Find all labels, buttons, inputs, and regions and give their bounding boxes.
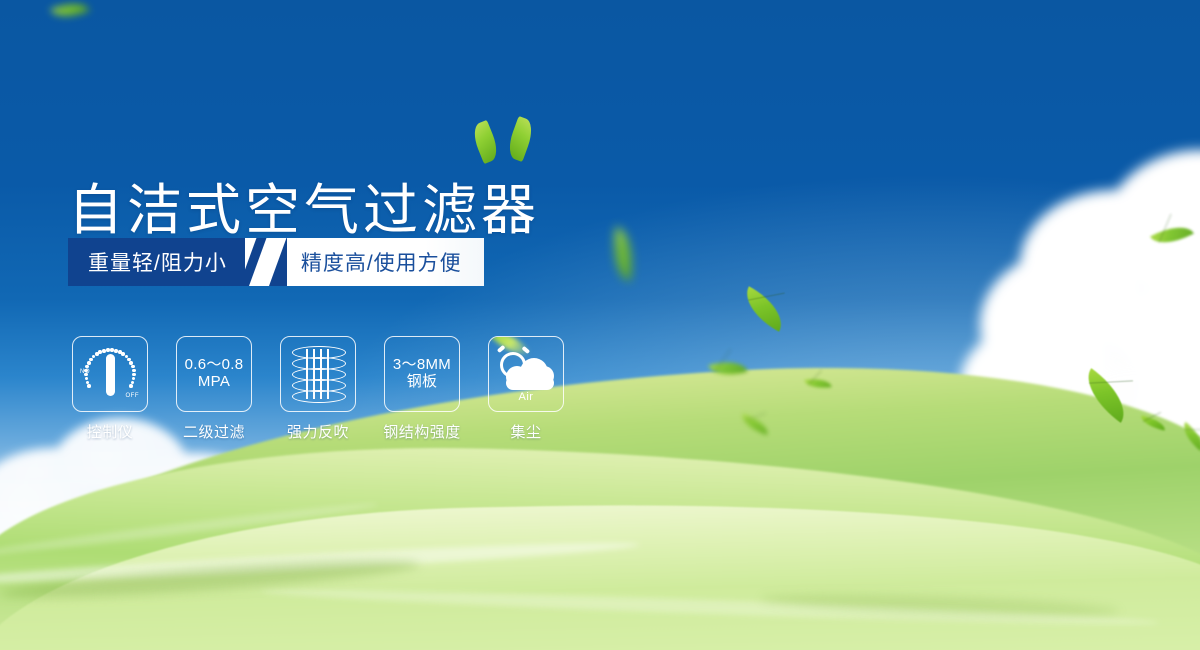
feature-item-blowback[interactable]: 强力反吹 <box>278 336 358 442</box>
gauge-tick-dot <box>84 373 88 377</box>
subtitle-left-tag: 重量轻/阻力小 <box>68 238 245 286</box>
feature-icon-box: 3～8MM 钢板 <box>384 336 460 412</box>
gauge-tick-dot <box>89 358 93 362</box>
feature-icon-box <box>280 336 356 412</box>
feature-icon-box: NO OFF <box>72 336 148 412</box>
product-banner: 自洁式空气过滤器 重量轻/阻力小 精度高/使用方便 NO OFF 控制仪 <box>0 0 1200 650</box>
subtitle-bar: 重量轻/阻力小 精度高/使用方便 <box>68 238 484 286</box>
pressure-unit-line: MPA <box>185 374 244 391</box>
gauge-tick-dot <box>85 365 89 369</box>
feature-label: 钢结构强度 <box>383 421 461 442</box>
feature-label: 二级过滤 <box>183 421 245 442</box>
subtitle-right-tag: 精度高/使用方便 <box>287 238 484 286</box>
steel-thickness-line: 3～8MM <box>393 357 451 374</box>
air-label: Air <box>496 391 556 403</box>
feature-label: 控制仪 <box>87 421 134 442</box>
filter-coil-icon <box>292 346 344 402</box>
feature-item-steel[interactable]: 3～8MM 钢板 钢结构强度 <box>382 336 462 442</box>
feature-icon-box: Air <box>488 336 564 412</box>
feature-item-dust[interactable]: Air 集尘 <box>486 336 566 442</box>
steel-plate-text-icon: 3～8MM 钢板 <box>393 357 451 391</box>
pressure-text-icon: 0.6～0.8 MPA <box>185 357 244 391</box>
gauge-icon: NO OFF <box>80 345 140 403</box>
feature-label: 强力反吹 <box>287 421 349 442</box>
feature-label: 集尘 <box>510 421 541 442</box>
subtitle-divider-slash <box>245 238 287 286</box>
steel-material-line: 钢板 <box>393 374 451 391</box>
gauge-needle-icon <box>106 354 115 396</box>
feature-item-control[interactable]: NO OFF 控制仪 <box>70 336 150 442</box>
gauge-tick-dot <box>132 377 136 381</box>
gauge-off-label: OFF <box>126 393 140 399</box>
feature-icon-box: 0.6～0.8 MPA <box>176 336 252 412</box>
gauge-tick-dot <box>132 373 136 377</box>
feature-item-pressure[interactable]: 0.6～0.8 MPA 二级过滤 <box>174 336 254 442</box>
pressure-value-line: 0.6～0.8 <box>185 357 244 374</box>
gauge-tick-dot <box>132 369 136 373</box>
gauge-tick-dot <box>131 365 135 369</box>
feature-list: NO OFF 控制仪 0.6～0.8 MPA 二级过滤 <box>70 336 566 442</box>
gauge-tick-dot <box>87 361 91 365</box>
air-cloud-icon: Air <box>496 346 556 402</box>
gauge-tick-dot <box>129 384 133 388</box>
gauge-tick-dot <box>85 377 89 381</box>
gauge-tick-dot <box>87 384 91 388</box>
page-title: 自洁式空气过滤器 <box>68 183 540 238</box>
